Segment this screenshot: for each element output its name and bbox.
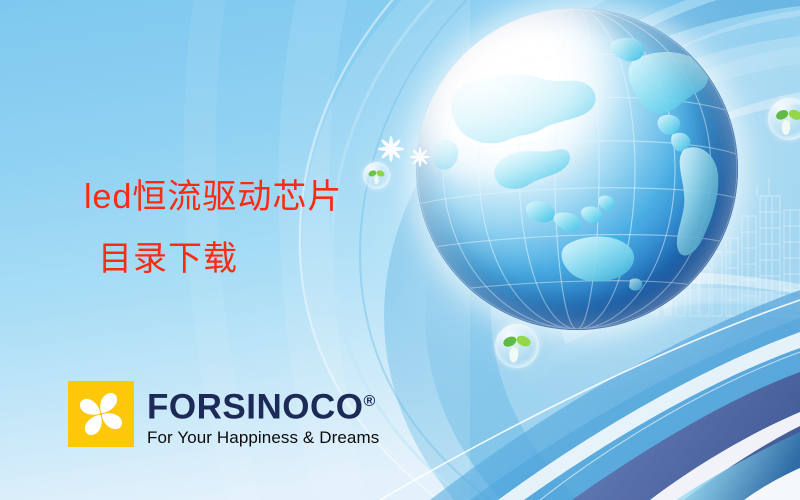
green-sprout-icon [363, 162, 390, 189]
headline-line-1: led恒流驱动芯片 [84, 178, 342, 216]
brand-wordmark: FORSINOCO® [147, 384, 379, 425]
pinwheel-petals-mark [68, 381, 134, 447]
bubble-with-sprout-bottom [495, 324, 539, 368]
globe-rim-shading [416, 8, 738, 330]
registered-trademark-icon: ® [363, 393, 375, 410]
poster-canvas: led恒流驱动芯片 目录下载 FORSINOCO® For Your Happi… [0, 0, 800, 500]
earth-globe [416, 8, 738, 330]
logo-text-block: FORSINOCO® For Your Happiness & Dreams [147, 381, 379, 448]
green-sprout-icon [495, 324, 539, 368]
brand-tagline: For Your Happiness & Dreams [147, 428, 379, 448]
brand-name: FORSINOCO [147, 388, 363, 427]
white-flower-small [410, 147, 430, 172]
bubble-with-sprout-left [363, 162, 390, 189]
green-sprout-icon [768, 98, 800, 140]
bubble-with-sprout-right [768, 98, 800, 140]
brand-logo: FORSINOCO® For Your Happiness & Dreams [68, 381, 379, 448]
headline-line-2: 目录下载 [84, 228, 342, 290]
page-title: led恒流驱动芯片 目录下载 [84, 166, 342, 290]
